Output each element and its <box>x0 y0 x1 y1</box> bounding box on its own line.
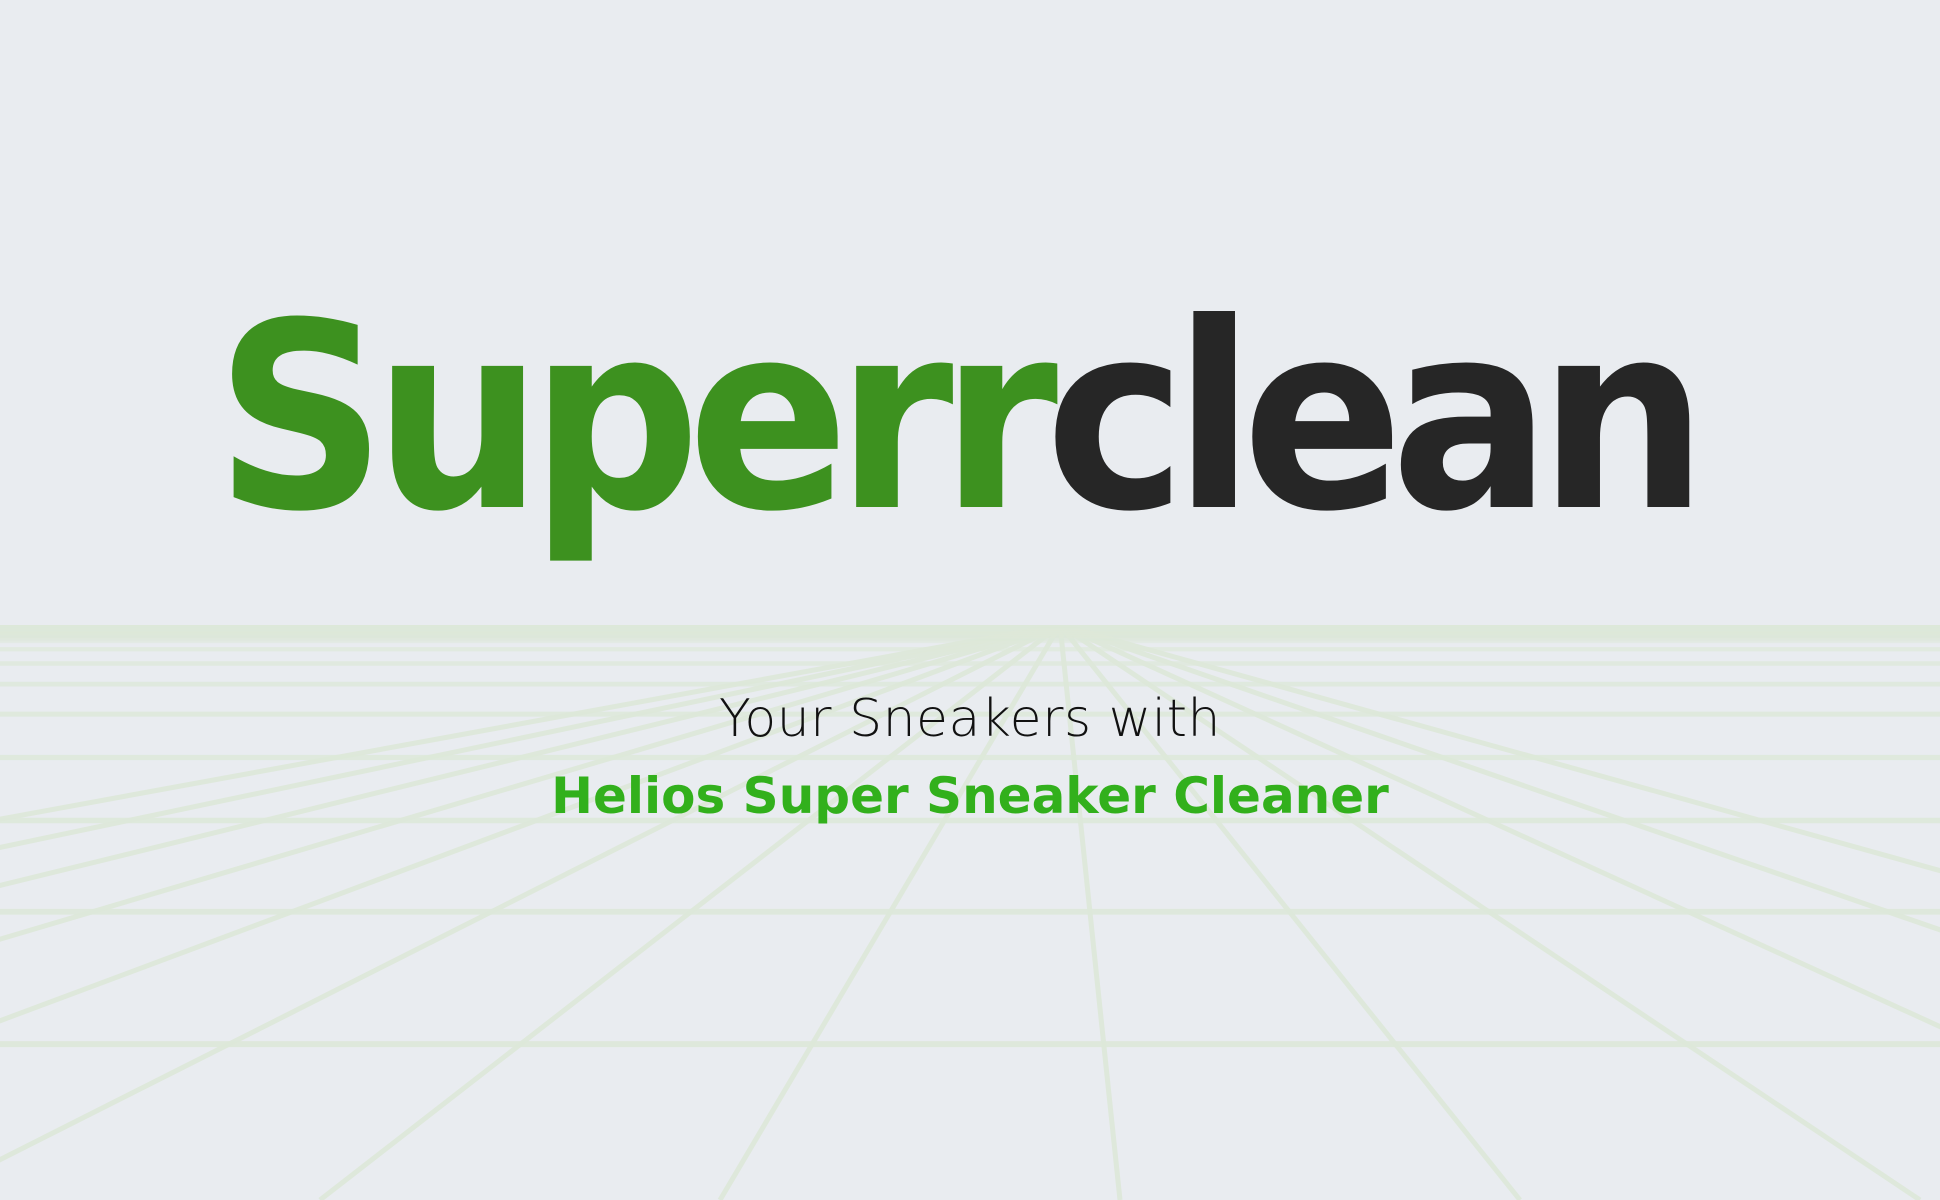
logo-part-green: Superr <box>215 275 1058 568</box>
title-card-canvas: Superrclean Your Sneakers with Helios Su… <box>0 0 1940 1200</box>
subtitle-line-primary: Your Sneakers with <box>0 680 1940 758</box>
logo-svg: Superrclean <box>215 275 1695 575</box>
subtitle-block: Your Sneakers with Helios Super Sneaker … <box>0 680 1940 834</box>
logo-part-dark: clean <box>1045 275 1695 568</box>
subtitle-line-product: Helios Super Sneaker Cleaner <box>0 758 1940 834</box>
logo-text-group: Superrclean <box>215 275 1695 568</box>
logo-wordmark: Superrclean <box>0 0 1940 625</box>
